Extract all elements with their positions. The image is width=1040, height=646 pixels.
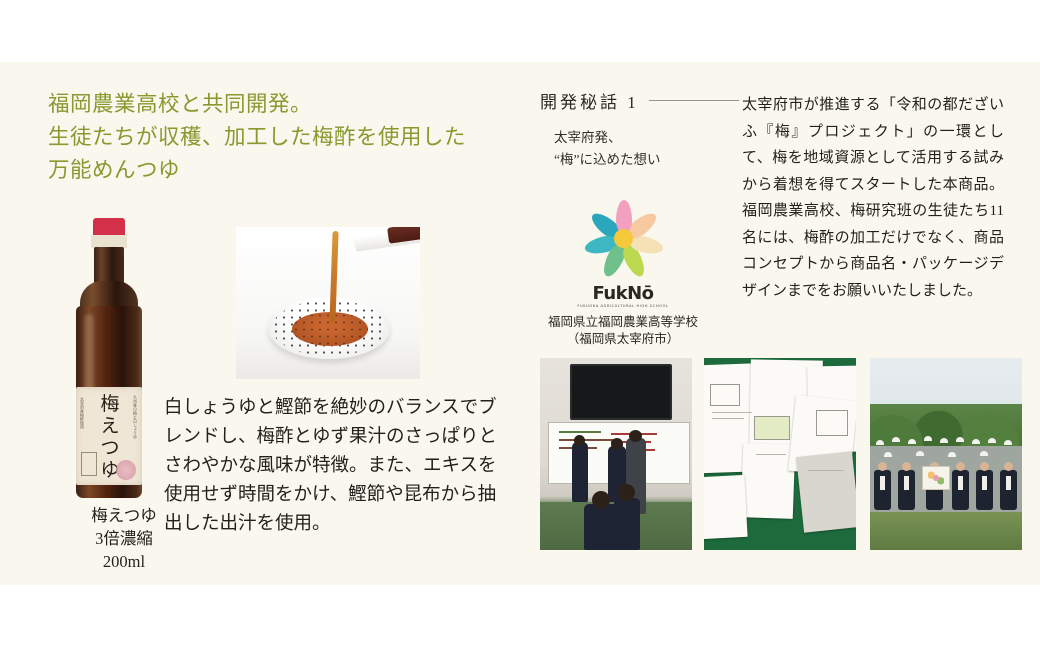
logo-center-dot — [614, 229, 633, 248]
white-cap-icon — [876, 440, 884, 445]
sketch-line — [756, 454, 786, 455]
person-head — [878, 462, 887, 471]
pouring-sauce-photo — [236, 227, 420, 379]
product-description: 白しょうゆと鰹節を絶妙のバランスでブレンドし、梅酢とゆず果汁のさっぱりとさわやか… — [164, 394, 514, 539]
whiteboard-writing — [559, 439, 614, 441]
seated-person-figure — [976, 470, 993, 510]
school-logo-block: FukNō FUKUOKA AGRICULTURAL HIGH SCHOOL 福… — [548, 196, 698, 348]
person-head — [956, 462, 965, 471]
design-sheet — [704, 475, 748, 539]
student-head — [611, 438, 623, 450]
seated-student-figure — [614, 498, 640, 550]
teacher-head — [629, 430, 642, 442]
sketch-line — [808, 470, 844, 471]
design-sketch-box — [710, 384, 740, 406]
white-cap-icon — [1004, 440, 1012, 445]
person-shirt — [982, 476, 987, 490]
student-head — [574, 435, 585, 446]
design-sketch-box — [754, 416, 790, 440]
presentation-plaque — [922, 466, 950, 490]
white-cap-icon — [956, 437, 964, 442]
sketch-line — [712, 418, 744, 419]
seated-person-figure — [1000, 470, 1017, 510]
logo-wordmark: FukNō — [548, 283, 698, 304]
white-cap-icon — [948, 452, 956, 457]
left-media-area: 九州産の梅と白しょうゆ 太宰府産梅酢使用 梅 え つ ゆ 梅えつゆ 3倍濃縮 2… — [20, 212, 520, 572]
person-shirt — [1006, 476, 1011, 490]
photo-row: 商品キャッチコピーの考案 商品名、パッケージ案 — [540, 358, 1010, 573]
white-cap-icon — [972, 439, 980, 444]
photo-classroom-discussion: 商品キャッチコピーの考案 — [540, 358, 692, 550]
student-figure — [572, 442, 588, 502]
person-shirt — [880, 476, 885, 490]
logo-subtext: FUKUOKA AGRICULTURAL HIGH SCHOOL — [548, 304, 698, 308]
white-cap-icon — [892, 437, 900, 442]
left-column: 福岡農業高校と共同開発。 生徒たちが収穫、加工した梅酢を使用した 万能めんつゆ — [48, 88, 518, 187]
design-sheet-list — [796, 451, 856, 532]
white-cap-icon — [940, 438, 948, 443]
bottle-label-side-right: 九州産の梅と白しょうゆ — [133, 395, 138, 439]
product-bottle-image: 九州産の梅と白しょうゆ 太宰府産梅酢使用 梅 え つ ゆ 梅えつゆ 3倍濃縮 2… — [54, 212, 164, 512]
person-head — [902, 462, 911, 471]
classroom-monitor — [570, 364, 672, 420]
seated-student-figure — [584, 504, 618, 550]
page-title: 福岡農業高校と共同開発。 生徒たちが収穫、加工した梅酢を使用した 万能めんつゆ — [48, 88, 518, 187]
person-shirt — [904, 476, 909, 490]
fukuno-logo-icon — [574, 196, 672, 282]
plum-blossom-stamp-icon — [116, 460, 136, 480]
design-sketch-box — [816, 410, 848, 436]
section-label: 開発秘話 1 — [540, 88, 639, 113]
product-page: 福岡農業高校と共同開発。 生徒たちが収穫、加工した梅酢を使用した 万能めんつゆ … — [0, 0, 1040, 646]
development-story-body: 太宰府市が推進する「令和の都だざいふ『梅』プロジェクト」の一環として、梅を地域資… — [742, 92, 1004, 304]
seated-person-figure — [898, 470, 915, 510]
person-head — [980, 462, 989, 471]
bottle-label-side-left: 太宰府産梅酢使用 — [80, 397, 85, 429]
photo-harvest-group: 梅収穫時の集合写真 — [870, 358, 1022, 550]
photo-package-design-drafts: 商品名、パッケージ案 — [704, 358, 856, 550]
seated-student-head — [592, 491, 610, 509]
white-cap-icon — [980, 451, 988, 456]
white-cap-icon — [916, 451, 924, 456]
seated-person-figure — [952, 470, 969, 510]
grass-field — [870, 512, 1022, 550]
white-cap-icon — [988, 438, 996, 443]
bottle-label-box — [81, 452, 97, 476]
whiteboard-writing — [559, 431, 601, 433]
plum-illustration-icon — [928, 471, 944, 485]
white-cap-icon — [908, 439, 916, 444]
section-divider — [649, 100, 739, 101]
bottle-graphic: 九州産の梅と白しょうゆ 太宰府産梅酢使用 梅 え つ ゆ — [72, 218, 146, 500]
white-cap-icon — [884, 452, 892, 457]
white-cap-icon — [924, 436, 932, 441]
bottle-label: 九州産の梅と白しょうゆ 太宰府産梅酢使用 梅 え つ ゆ — [76, 387, 142, 485]
school-name: 福岡県立福岡農業高等学校 （福岡県太宰府市） — [548, 314, 698, 348]
seated-student-head — [618, 484, 635, 501]
person-shirt — [958, 476, 963, 490]
sketch-line — [712, 412, 752, 413]
person-head — [1004, 462, 1013, 471]
seated-person-figure — [874, 470, 891, 510]
